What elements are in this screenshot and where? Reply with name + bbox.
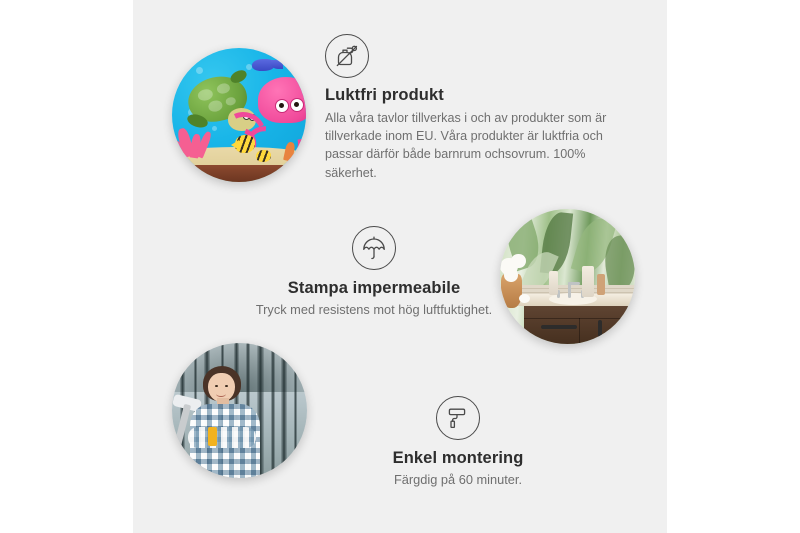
octopus-head-icon bbox=[258, 77, 306, 123]
bottle-icon bbox=[582, 266, 594, 297]
underwater-cartoon-wallpaper-circle bbox=[172, 48, 306, 182]
infographic-panel: Luktfri produkt Alla våra tavlor tillver… bbox=[133, 0, 667, 533]
faucet-spout-icon bbox=[568, 282, 580, 285]
bubble-icon bbox=[196, 67, 203, 74]
shell-spot bbox=[225, 97, 237, 107]
umbrella-icon bbox=[352, 226, 396, 270]
tree-trunk bbox=[271, 343, 275, 478]
vanity-cabinet bbox=[524, 306, 635, 344]
door-divider bbox=[579, 318, 581, 344]
feature-easy-mount: Enkel montering Färgdig på 60 minuter. bbox=[329, 396, 587, 489]
bubble-icon bbox=[246, 64, 252, 70]
sea-floor bbox=[172, 165, 306, 182]
painter-smile bbox=[216, 391, 226, 397]
shell-spot bbox=[216, 83, 231, 95]
feature-body: Färgdig på 60 minuter. bbox=[329, 471, 587, 490]
feature-title: Luktfri produkt bbox=[325, 85, 621, 106]
door-handle-icon bbox=[598, 320, 602, 337]
painter-held-tool bbox=[208, 427, 216, 446]
bottle-icon bbox=[549, 271, 558, 295]
octopus-pupil bbox=[294, 102, 299, 107]
octopus-eye-icon bbox=[290, 98, 304, 112]
underwater-scene bbox=[172, 48, 306, 182]
forest-painter-scene bbox=[172, 343, 307, 478]
striped-fish-icon bbox=[256, 150, 271, 162]
bottle-icon bbox=[597, 274, 605, 296]
painter-crossed-arms bbox=[188, 427, 256, 449]
feature-waterproof: Stampa impermeabile Tryck med resistens … bbox=[208, 226, 540, 319]
striped-fish-tail-icon bbox=[231, 140, 239, 150]
painter-eye bbox=[215, 385, 218, 387]
feature-title: Enkel montering bbox=[329, 448, 587, 469]
tree-trunk bbox=[294, 343, 297, 478]
feature-body: Tryck med resistens mot hög luftfuktighe… bbox=[208, 301, 540, 320]
painter-eye bbox=[225, 385, 228, 387]
screenshot-canvas: Luktfri produkt Alla våra tavlor tillver… bbox=[0, 0, 800, 533]
feature-body: Alla våra tavlor tillverkas i och av pro… bbox=[325, 109, 621, 183]
feature-title: Stampa impermeabile bbox=[208, 278, 540, 299]
octopus-eye-icon bbox=[275, 99, 289, 113]
painter-forest-wallpaper-circle bbox=[172, 343, 307, 478]
feature-odourless: Luktfri produkt Alla våra tavlor tillver… bbox=[325, 34, 621, 182]
paint-roller-icon bbox=[436, 396, 480, 440]
tree-trunk bbox=[281, 343, 287, 478]
shell-spot bbox=[207, 100, 223, 113]
drawer-handle-icon bbox=[541, 325, 577, 329]
no-fragrance-icon bbox=[325, 34, 369, 78]
octopus-pupil bbox=[279, 103, 284, 108]
bubble-icon bbox=[212, 126, 217, 131]
